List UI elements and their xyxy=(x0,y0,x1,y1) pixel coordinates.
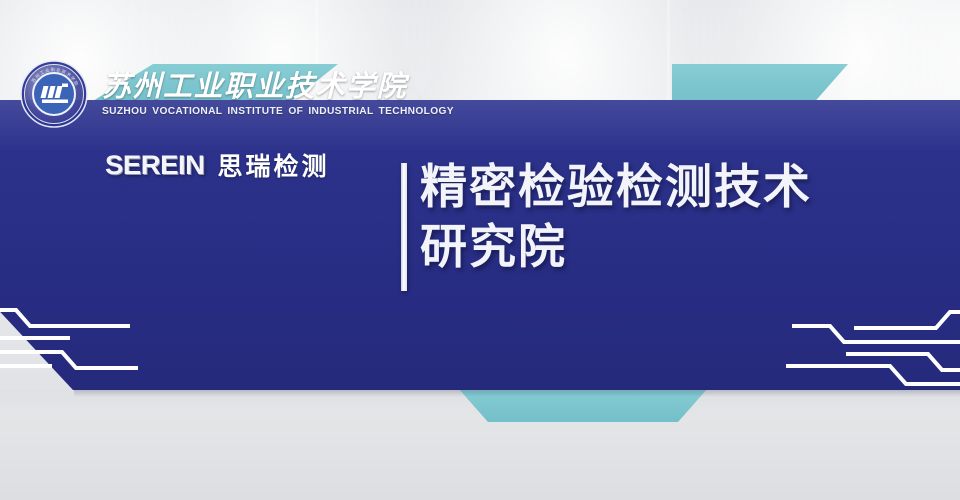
page-title: 精密检验检测技术 研究院 xyxy=(420,158,940,277)
serein-wordmark: SEREIN xyxy=(105,150,204,181)
page-title-line-1: 精密检验检测技术 xyxy=(420,158,940,218)
page-title-line-2: 研究院 xyxy=(420,218,940,278)
university-name-en: SUZHOU VOCATIONAL INSTITUTE OF INDUSTRIA… xyxy=(102,106,454,117)
university-crest-icon: 苏州工业职业技术学院 xyxy=(18,58,90,130)
signage-scene: 苏州工业职业技术学院 苏州工业职业技术学院 SUZHOU VOCATIONAL … xyxy=(0,0,960,500)
teal-panel-bottom-center xyxy=(458,388,708,422)
brand-block: 苏州工业职业技术学院 苏州工业职业技术学院 SUZHOU VOCATIONAL … xyxy=(18,58,390,183)
university-identity-row: 苏州工业职业技术学院 苏州工业职业技术学院 SUZHOU VOCATIONAL … xyxy=(18,58,390,130)
partner-identity-row: SEREIN 思瑞检测 xyxy=(106,147,390,183)
partner-name-cn: 思瑞检测 xyxy=(218,147,330,183)
university-name-group: 苏州工业职业技术学院 SUZHOU VOCATIONAL INSTITUTE O… xyxy=(102,71,454,118)
vertical-divider xyxy=(401,163,407,291)
university-name-cn: 苏州工业职业技术学院 xyxy=(102,71,454,102)
